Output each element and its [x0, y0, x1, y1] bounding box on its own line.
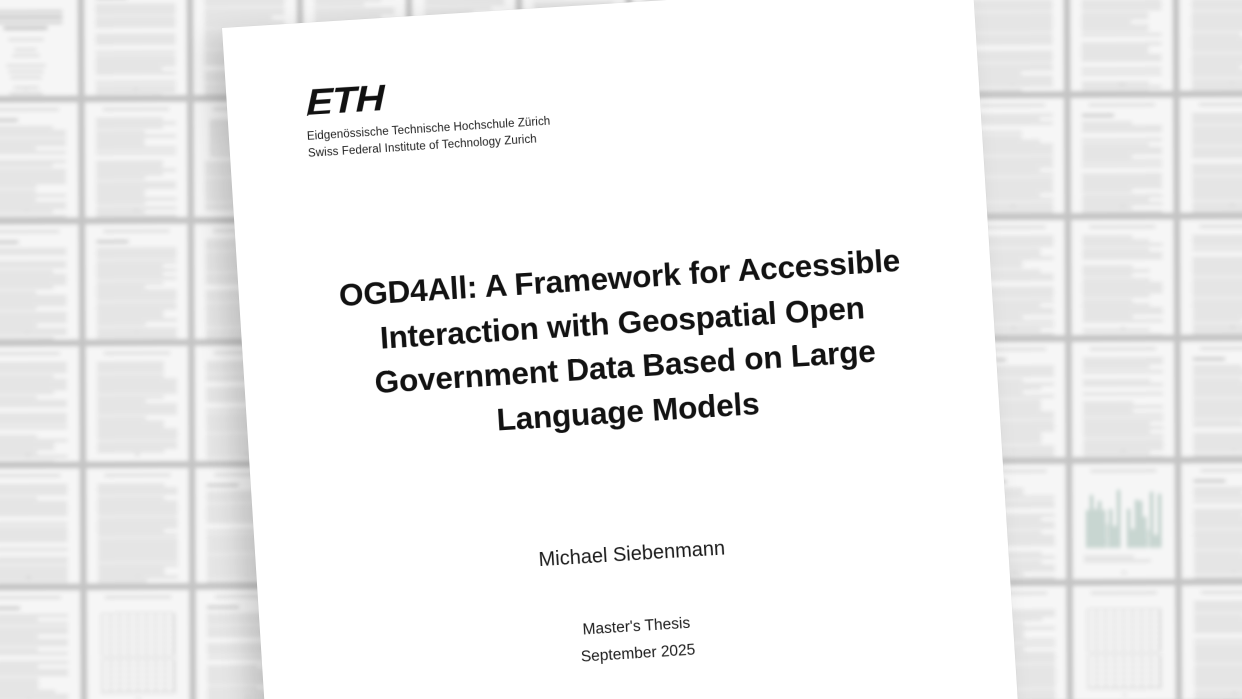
- thumbnail-page: 60: [1182, 463, 1242, 578]
- thesis-meta: Master's Thesis September 2025: [260, 590, 1014, 691]
- thumbnail-page: 47: [1072, 342, 1175, 457]
- thumbnail-page: 48: [1181, 341, 1242, 456]
- thumbnail-page: 1: [0, 0, 77, 96]
- thumbnail-page: 35: [1071, 220, 1174, 335]
- thumbnail-page: 36: [1181, 219, 1242, 334]
- thumbnail-page: 11: [1070, 0, 1173, 91]
- thumbnail-page: 49: [0, 468, 80, 583]
- thumbnail-page: 12: [1180, 0, 1242, 91]
- thesis-title: OGD4All: A Framework for Accessible Inte…: [296, 235, 952, 454]
- screenshot-stage: 1234567891011121314151617181920212223242…: [0, 0, 1242, 699]
- thumbnail-page: 50: [86, 468, 189, 583]
- thumbnail-page: 71: [1073, 586, 1176, 699]
- thumbnail-page: 26: [85, 224, 188, 339]
- thumbnail-page: 72: [1182, 585, 1242, 699]
- eth-logo-block: ETH Eidgenössische Technische Hochschule…: [304, 70, 552, 163]
- thumbnail-page: 38: [85, 346, 188, 461]
- thesis-title-page: ETH Eidgenössische Technische Hochschule…: [222, 0, 1020, 699]
- thumbnail-page: 13: [0, 102, 78, 217]
- thumbnail-page: 14: [84, 102, 187, 217]
- eth-wordmark-logo: ETH: [306, 80, 383, 123]
- thumbnail-page: 2: [84, 0, 187, 95]
- thesis-author: Michael Siebenmann: [256, 520, 1008, 590]
- thumbnail-page: 25: [0, 224, 78, 339]
- thumbnail-page: 59: [1072, 464, 1175, 579]
- thumbnail-page: 61: [0, 590, 80, 699]
- thumbnail-page: 24: [1180, 97, 1242, 212]
- thumbnail-page: 23: [1071, 98, 1174, 213]
- thumbnail-page: 62: [87, 590, 190, 699]
- thumbnail-page: 37: [0, 346, 79, 461]
